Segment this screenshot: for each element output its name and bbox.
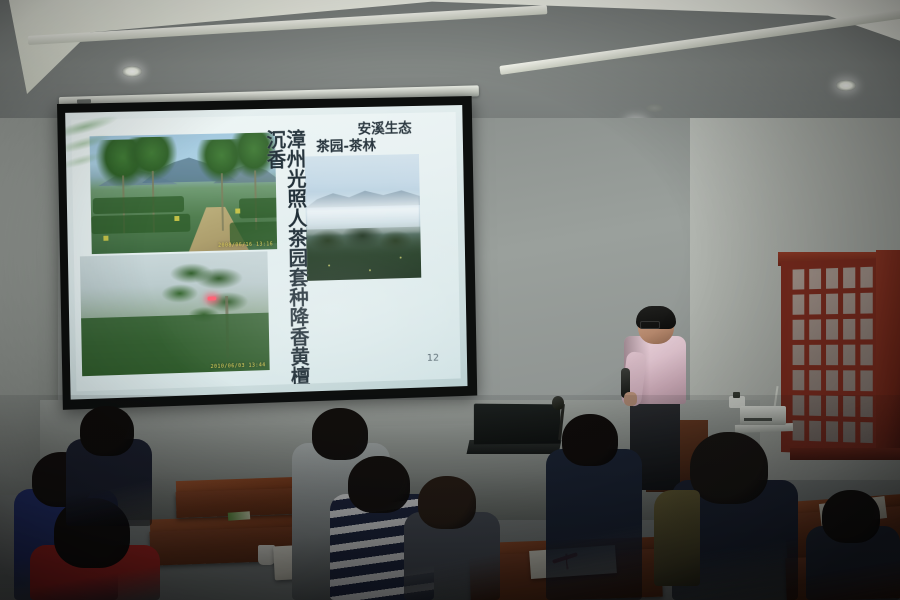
presenter-hand (624, 392, 637, 406)
cove-edge-right (499, 8, 900, 75)
power-plug (733, 392, 740, 398)
lattice-window-side-post (876, 250, 900, 456)
tea-bush-row (93, 196, 184, 214)
attendee-ponytail (404, 476, 500, 600)
photo-timestamp: 2008/06/16 13:16 (218, 241, 273, 248)
slide-photo-misty-tree: 2010/06/03 13:44 (80, 251, 270, 376)
attendee-far-right (806, 490, 900, 600)
attendee-dark-front (66, 406, 152, 526)
attendee-head (822, 490, 880, 543)
desk-item-green (228, 511, 251, 521)
field-marker (174, 216, 179, 221)
field-marker (103, 236, 108, 241)
attendee-vest-shoulder (654, 490, 700, 586)
slide-page-number: 12 (427, 353, 439, 364)
slide-title: 安溪生态 茶园-茶林 (312, 120, 458, 157)
attendee-head (418, 476, 476, 529)
light-speck (328, 264, 330, 266)
microphone-icon (552, 396, 564, 410)
projection-screen-surface: 2008/06/16 13:16 2010/06/03 13:44 (65, 105, 467, 400)
attendee-head (562, 414, 618, 466)
wooden-lattice-window (781, 258, 883, 456)
light-speck (369, 269, 371, 271)
downlight-icon (836, 80, 856, 91)
slide-vertical-caption: 漳州光照人茶园套种降香黄檀沉香 (275, 129, 309, 392)
forest-canopy (306, 227, 421, 281)
slide-photo-foggy-mountains (305, 154, 422, 281)
attendee-navy-left (546, 414, 642, 600)
light-speck (400, 257, 402, 259)
slide-title-line1: 安溪生态 (357, 121, 411, 138)
downlight-icon (122, 66, 142, 77)
conference-room-photo: 2008/06/16 13:16 2010/06/03 13:44 (0, 0, 900, 600)
router-led-strip (744, 418, 772, 421)
field-marker (235, 208, 240, 213)
laser-pointer-dot (207, 296, 216, 300)
attendee-head (80, 406, 134, 456)
attendee-head (690, 432, 768, 504)
ceiling-sensor-icon (646, 104, 663, 112)
attendee-navy-right (672, 432, 798, 600)
attendee-torso (546, 449, 642, 600)
router-device[interactable] (740, 406, 786, 425)
glasses-icon (640, 321, 660, 329)
lattice-grid (788, 266, 876, 449)
lattice-window-sill (790, 448, 900, 460)
tea-bush-row (239, 198, 277, 219)
attendee-head (312, 408, 368, 460)
attendee-head (348, 456, 410, 513)
projection-screen: 2008/06/16 13:16 2010/06/03 13:44 (57, 96, 477, 410)
slide-title-line2: 茶园-茶林 (312, 137, 457, 157)
